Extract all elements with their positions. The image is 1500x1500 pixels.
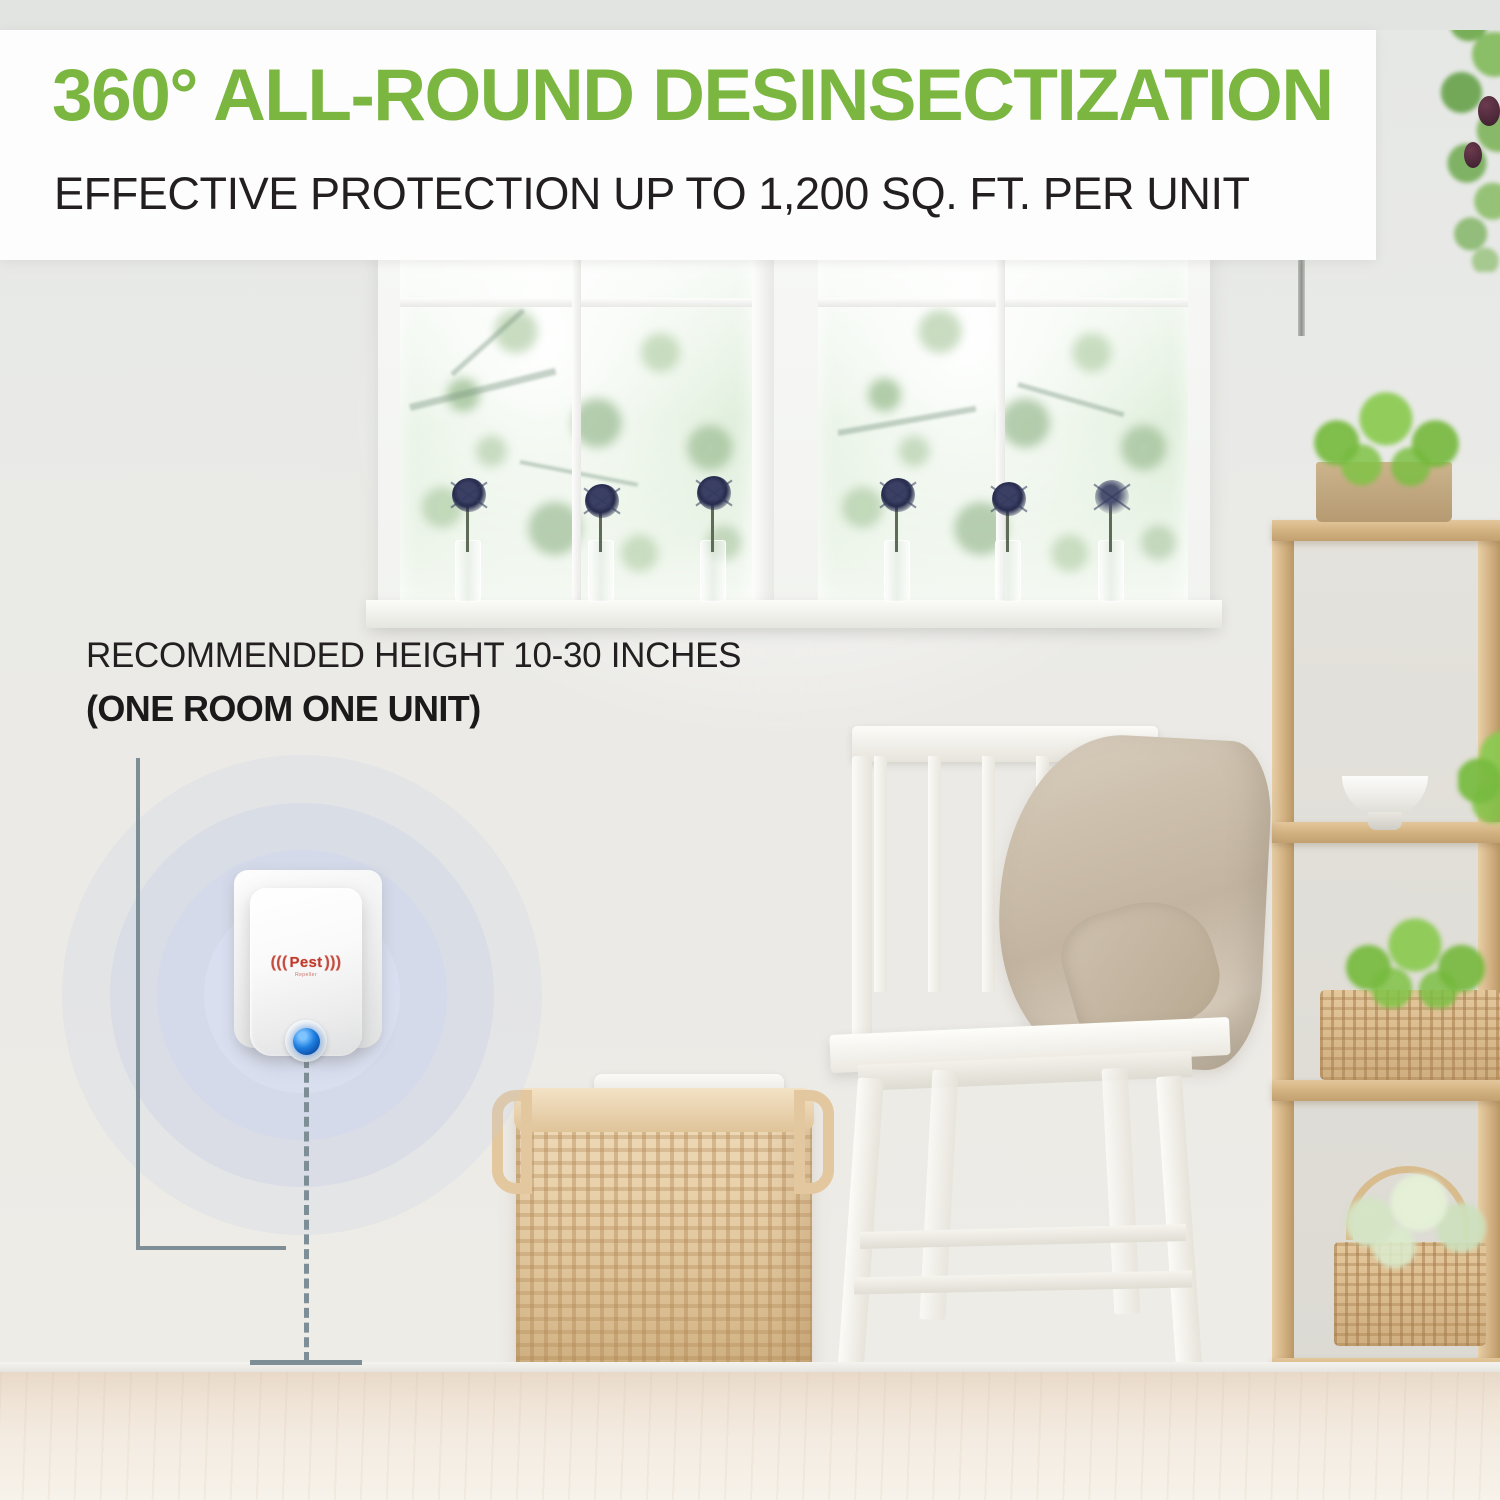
floor-grain xyxy=(0,1372,1500,1500)
basket-flowers-icon xyxy=(1324,1172,1500,1268)
chair-leg xyxy=(1156,1075,1202,1368)
hanging-plant-icon xyxy=(1432,0,1500,272)
height-guide-vertical-line xyxy=(136,758,140,1250)
window-sill xyxy=(366,600,1222,628)
recommended-height-text: RECOMMENDED HEIGHT 10-30 INCHES xyxy=(86,636,741,676)
sill-bottle xyxy=(1098,540,1126,602)
shelf-board-top xyxy=(1272,520,1500,541)
sill-bottle xyxy=(700,540,728,602)
chair-stretcher xyxy=(860,1224,1186,1249)
headline-banner: 360° ALL-ROUND DESINSECTIZATION EFFECTIV… xyxy=(0,30,1376,260)
window-assembly xyxy=(378,236,1210,628)
shelf-plant-icon xyxy=(1298,390,1474,486)
ultrasonic-pest-repeller-device[interactable]: ((( Pest ))) Repeller xyxy=(228,866,388,1062)
wall-vase-stem xyxy=(1298,250,1305,336)
basket-greenery-icon xyxy=(1332,918,1498,1008)
led-core xyxy=(293,1028,320,1055)
product-lifestyle-image: ((( Pest ))) Repeller RECOMMENDED HEIGHT… xyxy=(0,0,1500,1500)
subheadline-text: EFFECTIVE PROTECTION UP TO 1,200 SQ. FT.… xyxy=(54,168,1250,220)
floor-drop-dashed-line xyxy=(304,1058,309,1362)
sill-bottle xyxy=(884,540,912,602)
power-led-indicator[interactable] xyxy=(285,1020,327,1062)
chair-back-post xyxy=(852,756,872,1046)
seagrass-basket xyxy=(498,1068,828,1386)
floor-reference-tick xyxy=(250,1360,362,1365)
brand-logo: ((( Pest ))) xyxy=(271,954,342,971)
one-room-one-unit-text: (ONE ROOM ONE UNIT) xyxy=(86,688,481,730)
shelf-plant-icon xyxy=(1458,728,1500,824)
white-wooden-chair xyxy=(830,726,1240,1386)
shelf-board-lower xyxy=(1272,1080,1500,1101)
wave-bracket-left-icon: ((( xyxy=(271,955,288,971)
plant-berry xyxy=(1464,142,1482,168)
wave-bracket-right-icon: ))) xyxy=(324,955,341,971)
basket-handle xyxy=(794,1090,834,1194)
brand-name: Pest xyxy=(290,954,323,971)
chair-leg xyxy=(838,1077,884,1366)
sill-bottle xyxy=(995,540,1023,602)
basket-rim xyxy=(514,1088,814,1132)
sill-bottle xyxy=(455,540,483,602)
brand-subtitle: Repeller xyxy=(295,972,317,978)
plant-berry xyxy=(1478,96,1500,126)
headline-text: 360° ALL-ROUND DESINSECTIZATION xyxy=(52,54,1333,137)
top-edge-strip xyxy=(0,0,1500,30)
sill-bottle xyxy=(588,540,616,602)
chair-stretcher xyxy=(854,1270,1192,1294)
device-front-housing: ((( Pest ))) Repeller xyxy=(250,888,362,1056)
basket-body xyxy=(516,1094,812,1386)
height-guide-horizontal-tick xyxy=(136,1246,286,1250)
wooden-shelf-unit xyxy=(1272,520,1500,1380)
